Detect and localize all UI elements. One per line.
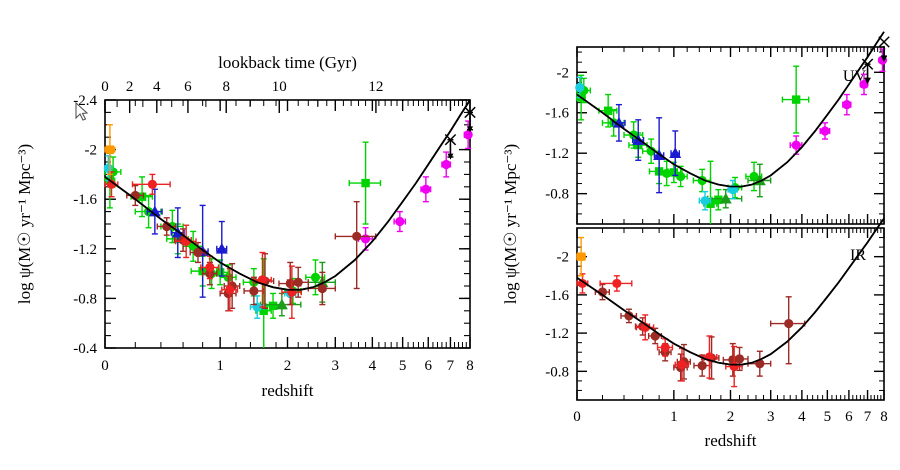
y-tick-label: -1.2: [545, 326, 569, 342]
top-tick-label: 2: [126, 79, 134, 95]
data-point: [311, 273, 320, 282]
y-tick-label: -0.8: [73, 291, 97, 307]
data-point: [205, 263, 214, 272]
fit-curve-combined-top: [105, 100, 470, 290]
data-point: [730, 362, 739, 371]
y-tick-label: -1.6: [545, 288, 569, 304]
data-point: [361, 179, 369, 187]
data-point: [249, 286, 258, 295]
data-point: [106, 145, 114, 153]
top-tick-label: 10: [272, 79, 287, 95]
x-tick-label: 8: [466, 358, 474, 374]
data-point: [294, 278, 303, 287]
y-tick-label: -0.8: [545, 187, 569, 203]
combined-plot-frame: [105, 100, 470, 348]
y-tick-label: -1.2: [73, 242, 97, 258]
data-point: [700, 196, 709, 205]
y-tick-label: -0.8: [545, 364, 569, 380]
data-point: [395, 217, 404, 226]
uv-plot-frame: [577, 47, 884, 224]
data-point: [442, 160, 451, 169]
x-tick-label: 5: [399, 358, 407, 374]
data-point: [661, 343, 670, 352]
fit-curve-ir-top: [577, 218, 884, 364]
data-point: [575, 83, 584, 92]
data-point: [677, 360, 686, 369]
data-point: [612, 279, 621, 288]
fit-curve-combined: [105, 100, 470, 290]
ir-panel: -0.8-1.2-1.6-2012345678IRredshift: [545, 218, 888, 450]
top-tick-label: 4: [153, 79, 161, 95]
x-tick-label: 8: [880, 409, 888, 425]
x-tick-label: 2: [727, 409, 735, 425]
x-tick-label: 6: [845, 409, 853, 425]
y-tick-label: -2: [85, 143, 98, 159]
data-point: [421, 185, 430, 194]
combined-panel: -0.4-0.8-1.2-1.6-2-2.4012345678redshiftl…: [15, 53, 475, 400]
data-point: [604, 107, 612, 115]
x-tick-label: 3: [767, 409, 775, 425]
shared-y-axis-title: log ψ(M☉ yr⁻¹ Mpc⁻³): [501, 144, 520, 304]
x-tick-label: 3: [332, 358, 340, 374]
x-tick-label: 7: [864, 409, 872, 425]
data-point: [225, 285, 234, 294]
data-point: [735, 354, 744, 363]
data-point: [269, 302, 277, 310]
data-point: [352, 232, 361, 241]
y-tick-label: -0.4: [73, 341, 97, 357]
data-point: [361, 234, 370, 243]
data-point: [820, 126, 829, 135]
x-tick-label: 1: [216, 358, 224, 374]
data-point: [792, 95, 800, 103]
y-tick-label: -2: [557, 65, 570, 81]
x-tick-label: 0: [101, 358, 109, 374]
uv-panel: -0.8-1.2-1.6-2UV: [545, 32, 889, 224]
data-point: [464, 130, 473, 139]
top-tick-label: 6: [184, 79, 192, 95]
data-point: [577, 252, 585, 260]
y-tick-label: -1.6: [545, 106, 569, 122]
x-tick-label: 2: [284, 358, 292, 374]
data-point: [148, 180, 157, 189]
x-tick-label: 7: [447, 358, 455, 374]
x-tick-label: 4: [369, 358, 377, 374]
y-axis-title: log ψ(M☉ yr⁻¹ Mpc⁻³): [15, 144, 34, 304]
y-tick-label: -1.6: [73, 192, 97, 208]
y-tick-label: -2: [557, 250, 570, 266]
x-tick-label: 5: [824, 409, 832, 425]
data-point: [842, 100, 851, 109]
top-tick-label: 0: [101, 79, 109, 95]
ir-plot-frame: [577, 228, 884, 400]
x-tick-label: 0: [573, 409, 581, 425]
x-tick-label: 1: [670, 409, 678, 425]
y-tick-label: -1.2: [545, 146, 569, 162]
data-point: [784, 319, 793, 328]
x-tick-label: 4: [798, 409, 806, 425]
x-tick-label: 6: [425, 358, 433, 374]
fit-curve-ir: [577, 218, 884, 364]
data-point: [792, 141, 801, 150]
figure-canvas: -0.4-0.8-1.2-1.6-2-2.4012345678redshiftl…: [0, 0, 900, 470]
top-tick-label: 12: [368, 79, 383, 95]
data-point: [698, 361, 707, 370]
x-axis-title: redshift: [705, 431, 757, 450]
top-tick-label: 8: [222, 79, 230, 95]
figure-svg: -0.4-0.8-1.2-1.6-2-2.4012345678redshiftl…: [0, 0, 900, 470]
x-axis-title: redshift: [262, 381, 314, 400]
top-axis-title: lookback time (Gyr): [218, 53, 357, 72]
